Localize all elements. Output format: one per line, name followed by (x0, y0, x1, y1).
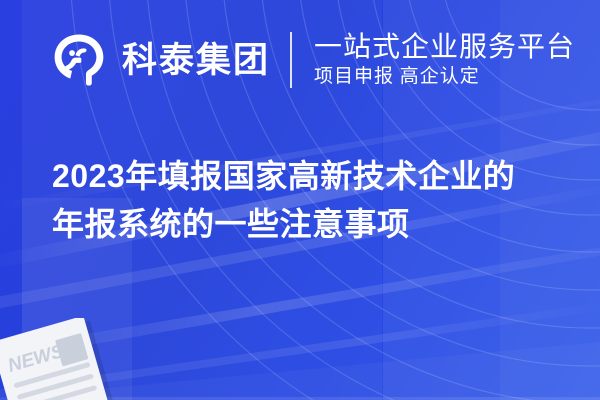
brand-name: 科泰集团 (122, 43, 270, 78)
banner-header: 科泰集团 一站式企业服务平台 项目申报 高企认定 (50, 26, 575, 94)
page-title: 2023年填报国家高新技术企业的 年报系统的一些注意事项 (52, 152, 572, 248)
header-divider (290, 32, 292, 88)
ketai-circular-logo-icon (50, 31, 108, 89)
tagline-group: 一站式企业服务平台 项目申报 高企认定 (314, 31, 575, 89)
page-title-line-1: 2023年填报国家高新技术企业的 (52, 152, 572, 200)
promo-banner: 科泰集团 一站式企业服务平台 项目申报 高企认定 2023年填报国家高新技术企业… (0, 0, 600, 400)
newspaper-icon: NEWS (0, 318, 120, 400)
tagline-sub: 项目申报 高企认定 (314, 65, 575, 89)
page-title-line-2: 年报系统的一些注意事项 (52, 200, 572, 248)
tagline-main: 一站式企业服务平台 (314, 31, 575, 62)
